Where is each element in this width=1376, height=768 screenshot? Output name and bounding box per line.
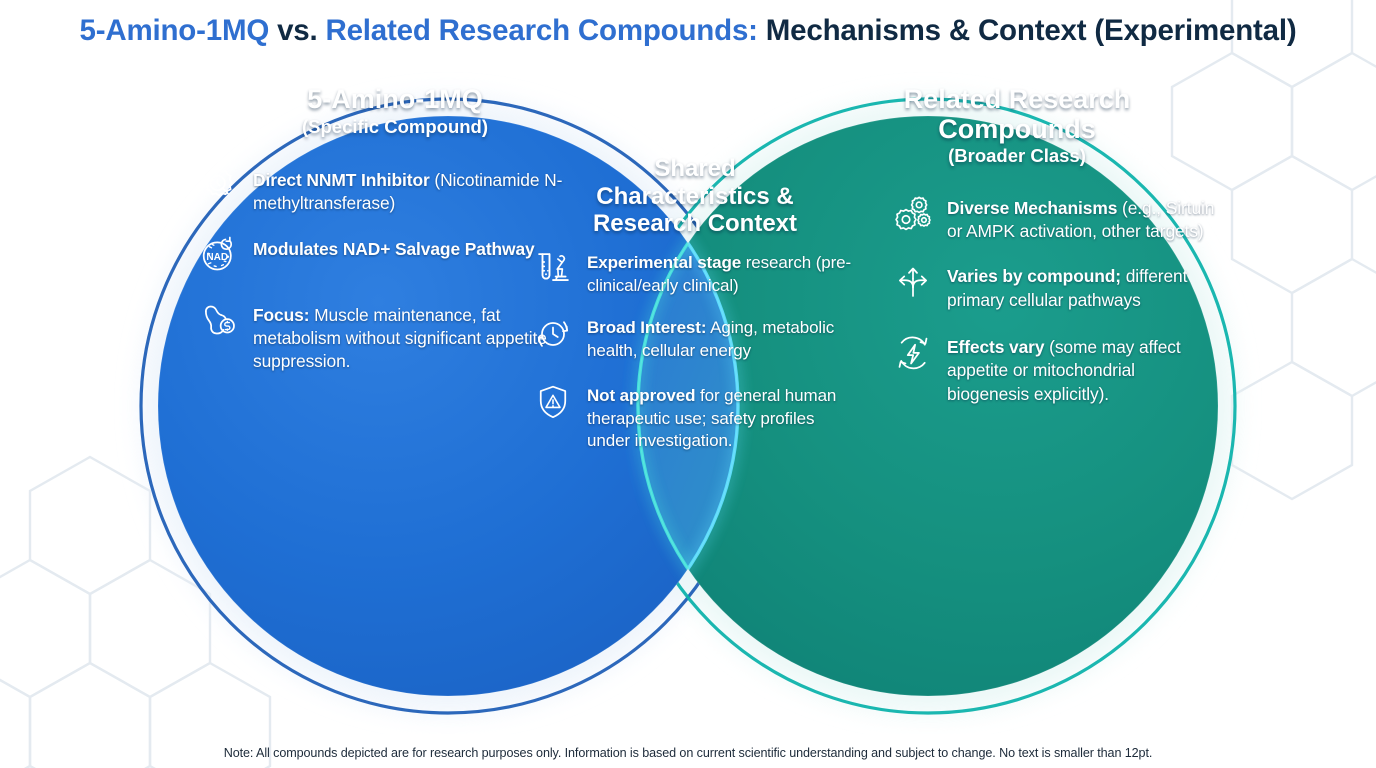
muscle-icon [196,300,242,346]
shield-warning-icon [530,381,576,427]
test-tube-microscope-icon [530,248,576,294]
list-item: Broad Interest: Aging, metabolic health,… [530,317,860,363]
list-item: Diverse Mechanisms (e.g., Sirtuin or AMP… [890,197,1216,244]
center-bullet-list: Experimental stage research (pre-clinica… [530,252,860,453]
list-item: Focus: Muscle maintenance, fat metabolis… [196,304,576,374]
list-item-text: Direct NNMT Inhibitor (Nicotinamide N-me… [253,169,576,216]
left-circle-panel: 5-Amino-1MQ (Specific Compound) Direct N… [196,85,576,390]
three-gears-icon [890,193,936,239]
center-title-line1: Shared [530,155,860,183]
list-item: NAD Modulates NAD+ Salvage Pathway [196,238,576,280]
list-item-bold: Effects vary [947,337,1044,357]
clock-cycle-icon [530,313,576,359]
list-item-bold: Varies by compound; [947,266,1121,286]
right-panel-heading: Related Research Compounds (Broader Clas… [818,85,1216,167]
list-item: Experimental stage research (pre-clinica… [530,252,860,298]
title-segment-related: Related Research Compounds: [326,14,758,47]
footnote: Note: All compounds depicted are for res… [0,746,1376,760]
list-item-bold: Not approved [587,386,695,405]
right-circle-panel: Related Research Compounds (Broader Clas… [824,85,1216,422]
overlap-panel: Shared Characteristics & Research Contex… [530,155,860,469]
nad-cycle-icon: NAD [196,234,242,280]
left-title: 5-Amino-1MQ [214,85,576,115]
list-item-text: Experimental stage research (pre-clinica… [587,252,860,298]
page-title: 5-Amino-1MQ vs. Related Research Compoun… [0,14,1376,48]
list-item-bold: Broad Interest: [587,318,706,337]
title-segment-vs: vs. [269,14,325,47]
branching-arrows-icon [890,261,936,307]
list-item-text: Broad Interest: Aging, metabolic health,… [587,317,860,363]
list-item: Effects vary (some may affect appetite o… [890,336,1216,406]
left-subtitle: (Specific Compound) [214,117,576,137]
left-panel-heading: 5-Amino-1MQ (Specific Compound) [214,85,576,137]
list-item-bold: Focus: [253,305,309,325]
left-bullet-list: Direct NNMT Inhibitor (Nicotinamide N-me… [196,169,576,374]
list-item-bold: Direct NNMT Inhibitor [253,170,430,190]
list-item: Not approved for general human therapeut… [530,385,860,453]
list-item-bold: Experimental stage [587,253,741,272]
list-item-text: Focus: Muscle maintenance, fat metabolis… [253,304,576,374]
list-item-bold: Modulates NAD+ Salvage Pathway [253,239,535,259]
right-bullet-list: Diverse Mechanisms (e.g., Sirtuin or AMP… [890,197,1216,406]
gear-magnifier-icon [196,165,242,211]
right-subtitle: (Broader Class) [818,146,1216,166]
list-item: Varies by compound; different primary ce… [890,265,1216,312]
center-title-line3: Research Context [530,210,860,238]
list-item-bold: Diverse Mechanisms [947,198,1117,218]
right-title-line1: Related Research [818,85,1216,115]
lightning-cycle-icon [890,332,936,378]
list-item-text: Effects vary (some may affect appetite o… [947,336,1216,406]
list-item-text: Modulates NAD+ Salvage Pathway [253,238,535,261]
list-item-text: Varies by compound; different primary ce… [947,265,1216,312]
title-segment-compound: 5-Amino-1MQ [80,14,270,47]
center-panel-heading: Shared Characteristics & Research Contex… [530,155,860,238]
title-segment-mechanisms: Mechanisms & Context (Experimental) [758,14,1297,47]
list-item-text: Not approved for general human therapeut… [587,385,860,453]
center-title-line2: Characteristics & [530,183,860,211]
list-item: Direct NNMT Inhibitor (Nicotinamide N-me… [196,169,576,216]
list-item-text: Diverse Mechanisms (e.g., Sirtuin or AMP… [947,197,1216,244]
right-title-line2: Compounds [818,115,1216,145]
